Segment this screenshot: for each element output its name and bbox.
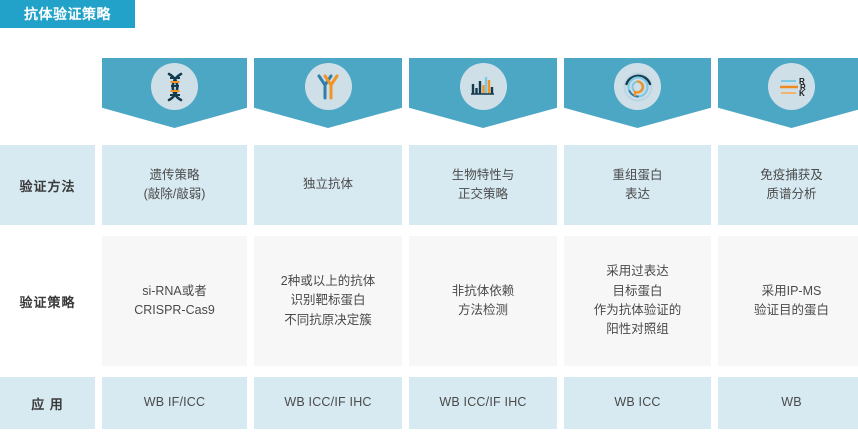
table-row: 验证方法 遗传策略 (敲除/敲弱) 独立抗体 生物特性与 正交策略 重组蛋白 bbox=[0, 145, 858, 225]
gutter bbox=[402, 58, 409, 128]
row-label-method: 验证方法 bbox=[0, 145, 95, 225]
pentagon-banner: R R K bbox=[718, 58, 858, 128]
gutter bbox=[402, 145, 409, 225]
header-cell-1[interactable] bbox=[102, 58, 247, 128]
concentric-spiral-icon bbox=[614, 63, 661, 110]
cell-text: 非抗体依赖 方法检测 bbox=[452, 282, 515, 321]
cell-method-5: 免疫捕获及 质谱分析 bbox=[718, 145, 858, 225]
header-cell-5[interactable]: R R K bbox=[718, 58, 858, 128]
cell-text: 独立抗体 bbox=[303, 175, 353, 194]
gutter bbox=[557, 377, 564, 429]
table-header-row: R R K bbox=[0, 58, 858, 128]
cell-strategy-4: 采用过表达 目标蛋白 作为抗体验证的 阳性对照组 bbox=[564, 236, 711, 366]
cell-application-5: WB bbox=[718, 377, 858, 429]
cell-text: WB bbox=[781, 393, 802, 412]
gutter bbox=[95, 236, 102, 366]
header-corner-cell bbox=[0, 58, 95, 128]
cell-text: 采用IP-MS 验证目的蛋白 bbox=[754, 282, 829, 321]
gutter bbox=[557, 145, 564, 225]
cell-text: WB ICC/IF IHC bbox=[439, 393, 526, 412]
pentagon-banner bbox=[564, 58, 711, 128]
gutter bbox=[711, 145, 718, 225]
cell-application-3: WB ICC/IF IHC bbox=[409, 377, 557, 429]
cell-application-4: WB ICC bbox=[564, 377, 711, 429]
cell-method-4: 重组蛋白 表达 bbox=[564, 145, 711, 225]
gutter bbox=[247, 236, 254, 366]
table-row: 验证策略 si-RNA或者 CRISPR-Cas9 2种或以上的抗体 识别靶标蛋… bbox=[0, 236, 858, 366]
cell-text: si-RNA或者 CRISPR-Cas9 bbox=[134, 282, 215, 321]
cell-text: 重组蛋白 表达 bbox=[612, 166, 662, 205]
gutter bbox=[402, 236, 409, 366]
pentagon-banner bbox=[102, 58, 247, 128]
cell-text: 遗传策略 (敲除/敲弱) bbox=[144, 166, 206, 205]
cell-application-1: WB IF/ICC bbox=[102, 377, 247, 429]
dna-helix-icon bbox=[151, 63, 198, 110]
header-cell-2[interactable] bbox=[254, 58, 402, 128]
gutter bbox=[95, 58, 102, 128]
row-spacer bbox=[0, 366, 858, 377]
gutter bbox=[247, 58, 254, 128]
gutter bbox=[247, 377, 254, 429]
row-label-strategy: 验证策略 bbox=[0, 236, 95, 366]
gutter bbox=[557, 236, 564, 366]
cell-text: WB ICC/IF IHC bbox=[284, 393, 371, 412]
bar-peaks-icon bbox=[460, 63, 507, 110]
gutter bbox=[557, 58, 564, 128]
peptide-sequence-icon: R R K bbox=[768, 63, 815, 110]
gutter bbox=[711, 236, 718, 366]
row-label-application: 应 用 bbox=[0, 377, 95, 429]
cell-strategy-2: 2种或以上的抗体 识别靶标蛋白 不同抗原决定簇 bbox=[254, 236, 402, 366]
table-row: 应 用 WB IF/ICC WB ICC/IF IHC WB ICC/IF IH… bbox=[0, 377, 858, 429]
cell-text: WB IF/ICC bbox=[144, 393, 206, 412]
strategy-table: R R K 验证方法 遗传策略 (敲除/敲弱) 独立抗体 bbox=[0, 58, 858, 429]
page-title-badge: 抗体验证策略 bbox=[0, 0, 135, 28]
pentagon-banner bbox=[254, 58, 402, 128]
row-spacer bbox=[0, 225, 858, 236]
antibody-y-icon bbox=[305, 63, 352, 110]
cell-text: WB ICC bbox=[614, 393, 660, 412]
gutter bbox=[402, 377, 409, 429]
cell-strategy-5: 采用IP-MS 验证目的蛋白 bbox=[718, 236, 858, 366]
cell-method-3: 生物特性与 正交策略 bbox=[409, 145, 557, 225]
svg-text:K: K bbox=[799, 89, 805, 98]
cell-text: 采用过表达 目标蛋白 作为抗体验证的 阳性对照组 bbox=[594, 262, 682, 340]
cell-strategy-3: 非抗体依赖 方法检测 bbox=[409, 236, 557, 366]
header-cell-3[interactable] bbox=[409, 58, 557, 128]
gutter bbox=[95, 145, 102, 225]
header-cell-4[interactable] bbox=[564, 58, 711, 128]
cell-method-1: 遗传策略 (敲除/敲弱) bbox=[102, 145, 247, 225]
row-spacer bbox=[0, 128, 858, 145]
gutter bbox=[711, 58, 718, 128]
gutter bbox=[247, 145, 254, 225]
cell-text: 生物特性与 正交策略 bbox=[452, 166, 515, 205]
cell-text: 免疫捕获及 质谱分析 bbox=[760, 166, 823, 205]
pentagon-banner bbox=[409, 58, 557, 128]
gutter bbox=[711, 377, 718, 429]
gutter bbox=[95, 377, 102, 429]
page-title: 抗体验证策略 bbox=[24, 4, 111, 24]
cell-text: 2种或以上的抗体 识别靶标蛋白 不同抗原决定簇 bbox=[281, 272, 375, 330]
cell-method-2: 独立抗体 bbox=[254, 145, 402, 225]
cell-strategy-1: si-RNA或者 CRISPR-Cas9 bbox=[102, 236, 247, 366]
cell-application-2: WB ICC/IF IHC bbox=[254, 377, 402, 429]
